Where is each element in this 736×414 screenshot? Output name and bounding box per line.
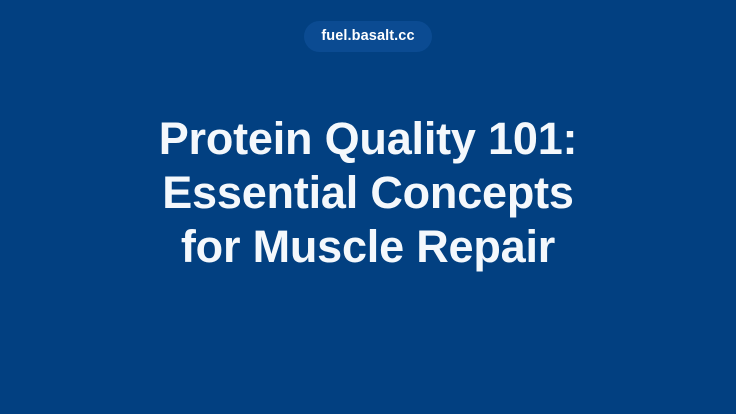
badge-row: fuel.basalt.cc [0,21,736,52]
site-domain-badge[interactable]: fuel.basalt.cc [304,21,431,52]
page-title: Protein Quality 101: Essential Concepts … [88,112,648,274]
headline-container: Protein Quality 101: Essential Concepts … [0,112,736,274]
title-card: fuel.basalt.cc Protein Quality 101: Esse… [0,0,736,414]
